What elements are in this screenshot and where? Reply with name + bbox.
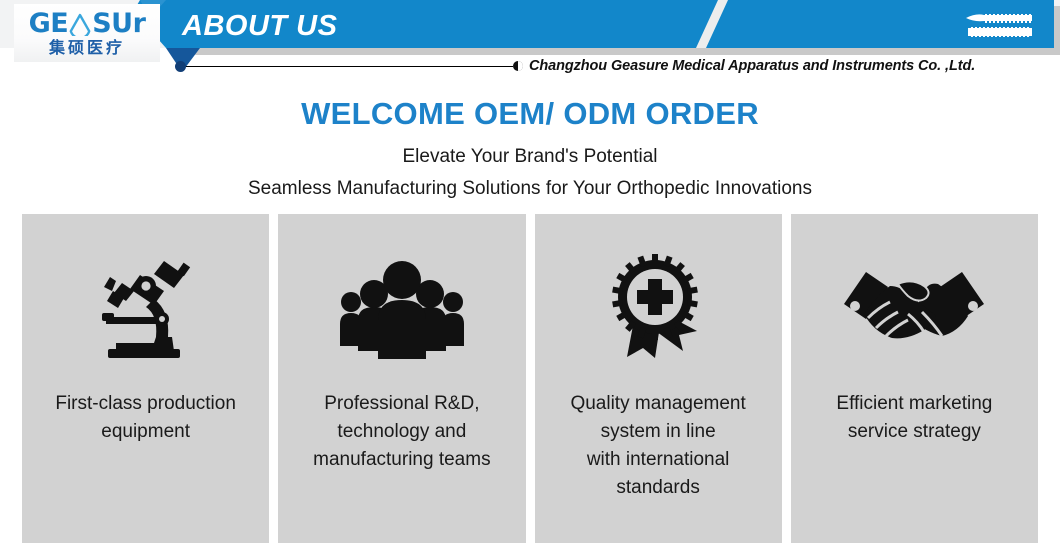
bone-screws-icon (962, 12, 1038, 40)
logo-wordmark-pre: GE (29, 10, 69, 37)
geasure-logo[interactable]: GE SUr 集硕医疗 (14, 4, 160, 62)
feature-card-list: First-class production equipment (22, 214, 1038, 543)
logo-chinese-name: 集硕医疗 (49, 40, 125, 56)
card-icon-wrap (605, 236, 711, 386)
section-title: ABOUT US (182, 10, 337, 43)
company-name-line: Changzhou Geasure Medical Apparatus and … (168, 55, 1060, 77)
company-name: Changzhou Geasure Medical Apparatus and … (529, 58, 975, 74)
team-people-icon (338, 258, 466, 364)
card-icon-wrap (338, 236, 466, 386)
logo-droplet-a-icon (69, 12, 91, 36)
page-title: WELCOME OEM/ ODM ORDER (0, 97, 1060, 131)
logo-wordmark: GE SUr (29, 10, 146, 37)
company-bullet-icon (513, 61, 523, 71)
subtitle-line-1: Elevate Your Brand's Potential (0, 142, 1060, 171)
quality-badge-icon (605, 253, 711, 369)
company-line-rule (186, 66, 513, 67)
page-header: GE SUr 集硕医疗 ABOUT US (0, 0, 1060, 84)
card-icon-wrap (838, 236, 990, 386)
feature-card-label: Efficient marketing service strategy (828, 390, 1000, 446)
feature-card-label: Professional R&D, technology and manufac… (305, 390, 498, 474)
subtitle-line-2: Seamless Manufacturing Solutions for You… (0, 174, 1060, 203)
feature-card-quality[interactable]: Quality management system in line with i… (535, 214, 782, 543)
company-line-dot (175, 61, 186, 72)
feature-card-label: First-class production equipment (47, 390, 244, 446)
logo-wordmark-post: SUr (92, 10, 145, 37)
feature-card-label: Quality management system in line with i… (562, 390, 753, 502)
handshake-icon (838, 262, 990, 360)
feature-card-production[interactable]: First-class production equipment (22, 214, 269, 543)
feature-card-marketing[interactable]: Efficient marketing service strategy (791, 214, 1038, 543)
card-icon-wrap (94, 236, 198, 386)
microscope-icon (94, 255, 198, 367)
feature-card-teams[interactable]: Professional R&D, technology and manufac… (278, 214, 525, 543)
